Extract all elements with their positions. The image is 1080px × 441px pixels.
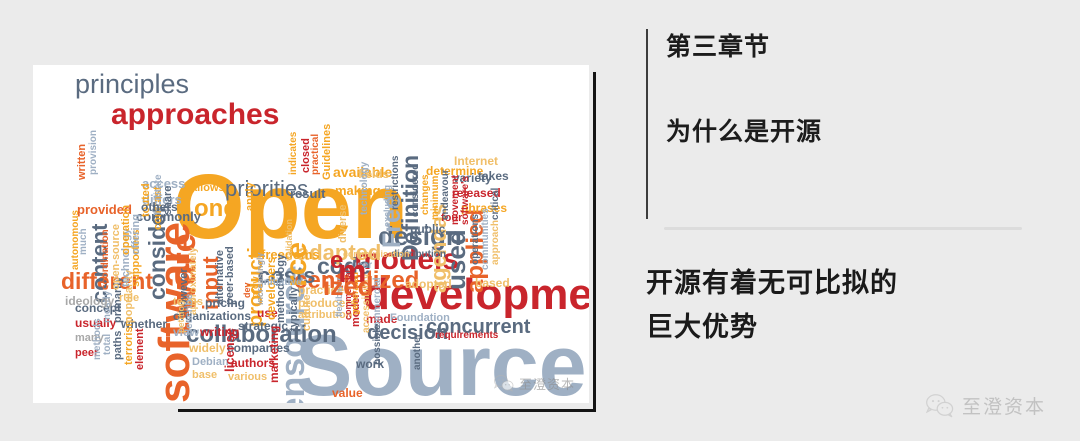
chapter-title: 为什么是开源 xyxy=(666,112,822,148)
wordcloud-word: autonomous xyxy=(71,210,81,270)
wordcloud-word: validation xyxy=(285,219,294,261)
wordcloud-word: possible xyxy=(373,324,383,365)
wordcloud-word: value xyxy=(332,387,363,399)
wordcloud-word: petition xyxy=(177,301,186,334)
wordcloud-watermark-text: 至澄资本 xyxy=(519,374,575,393)
corner-watermark-text: 至澄资本 xyxy=(962,392,1046,419)
section-divider xyxy=(664,227,1022,230)
wordcloud-word: Internet xyxy=(454,155,498,167)
wordcloud-word: Foundation xyxy=(390,313,450,324)
wordcloud-word: apply xyxy=(245,182,256,211)
wechat-icon xyxy=(926,394,954,418)
wordcloud-word: restrictions xyxy=(391,156,401,210)
wordcloud-panel: OpenSourcedevelopmentsoftwareopensourcea… xyxy=(0,0,620,441)
text-panel: 第三章节 为什么是开源 开源有着无可比拟的 巨大优势 至澄资本 xyxy=(620,0,1080,441)
wordcloud-word: methodology xyxy=(276,254,287,323)
wordcloud-word: increasingly xyxy=(256,252,265,305)
wordcloud-word: describe xyxy=(185,294,195,335)
wordcloud-word: provision xyxy=(89,130,99,175)
wordcloud-word: requirements xyxy=(435,331,498,341)
wordcloud-word: takes xyxy=(478,170,509,182)
wordcloud-word: alternative xyxy=(215,250,226,305)
wordcloud-word: operation xyxy=(121,205,132,255)
wordcloud-word: ized xyxy=(323,273,374,299)
chapter-vertical-rule xyxy=(646,29,648,219)
wordcloud-word: e xyxy=(330,249,343,273)
wordcloud-watermark: 至澄资本 xyxy=(494,374,575,393)
wordcloud-word: diverse xyxy=(338,204,349,243)
wechat-icon xyxy=(494,375,514,392)
wordcloud-word: written xyxy=(77,144,88,180)
wordcloud-word: terrorism xyxy=(124,317,135,365)
wordcloud-word: based xyxy=(475,277,510,289)
wordcloud-word: coordination xyxy=(101,229,111,290)
wordcloud-word: marketing xyxy=(268,326,280,383)
wordcloud-word: critical xyxy=(491,188,501,220)
wordcloud-word: total xyxy=(103,334,113,355)
wordcloud-word: methods xyxy=(93,318,103,360)
wordcloud-word: excluding xyxy=(383,185,392,227)
wordcloud-word: widely xyxy=(189,342,226,354)
wordcloud-word: element xyxy=(135,328,146,370)
wordcloud-word: allows xyxy=(191,183,225,194)
headline-block: 开源有着无可比拟的 巨大优势 xyxy=(646,262,898,349)
wordcloud-image: OpenSourcedevelopmentsoftwareopensourcea… xyxy=(33,65,589,403)
wordcloud-word: indicates xyxy=(289,132,299,175)
wordcloud-word: principles xyxy=(75,71,189,98)
corner-watermark: 至澄资本 xyxy=(926,392,1046,419)
wordcloud-word: initiative xyxy=(261,278,302,288)
wordcloud-word: technology xyxy=(360,162,370,215)
wordcloud-word: approach xyxy=(491,220,501,265)
wordcloud-word: public xyxy=(410,223,445,235)
wordcloud-word: base xyxy=(192,370,217,381)
wordcloud-word: rule xyxy=(119,293,139,304)
headline-line-1: 开源有着无可比拟的 xyxy=(646,262,898,306)
wordcloud-word: typically xyxy=(289,287,300,331)
wordcloud-word: another xyxy=(413,333,423,370)
wordcloud-word: paths xyxy=(113,331,124,360)
wordcloud-word: result xyxy=(290,187,325,200)
wordcloud-word: dev xyxy=(243,282,252,298)
wordcloud-word: approaches xyxy=(111,100,279,130)
wordcloud-word: peer-based xyxy=(225,246,236,305)
wordcloud-word: license xyxy=(223,328,236,372)
wordcloud-word: others xyxy=(141,201,178,213)
headline-line-2: 巨大优势 xyxy=(646,306,898,350)
wordcloud-word: making xyxy=(335,184,381,197)
wordcloud-word: ideology xyxy=(65,295,114,307)
chapter-label: 第三章节 xyxy=(666,27,770,63)
wordcloud-word: Guidelines xyxy=(322,124,333,180)
wordcloud-word: offering xyxy=(131,214,142,255)
wordcloud-word: culture xyxy=(302,294,313,331)
wordcloud-word: practical xyxy=(311,134,321,175)
wordcloud-word: adopted xyxy=(405,278,452,290)
wordcloud-word: various xyxy=(228,372,267,383)
